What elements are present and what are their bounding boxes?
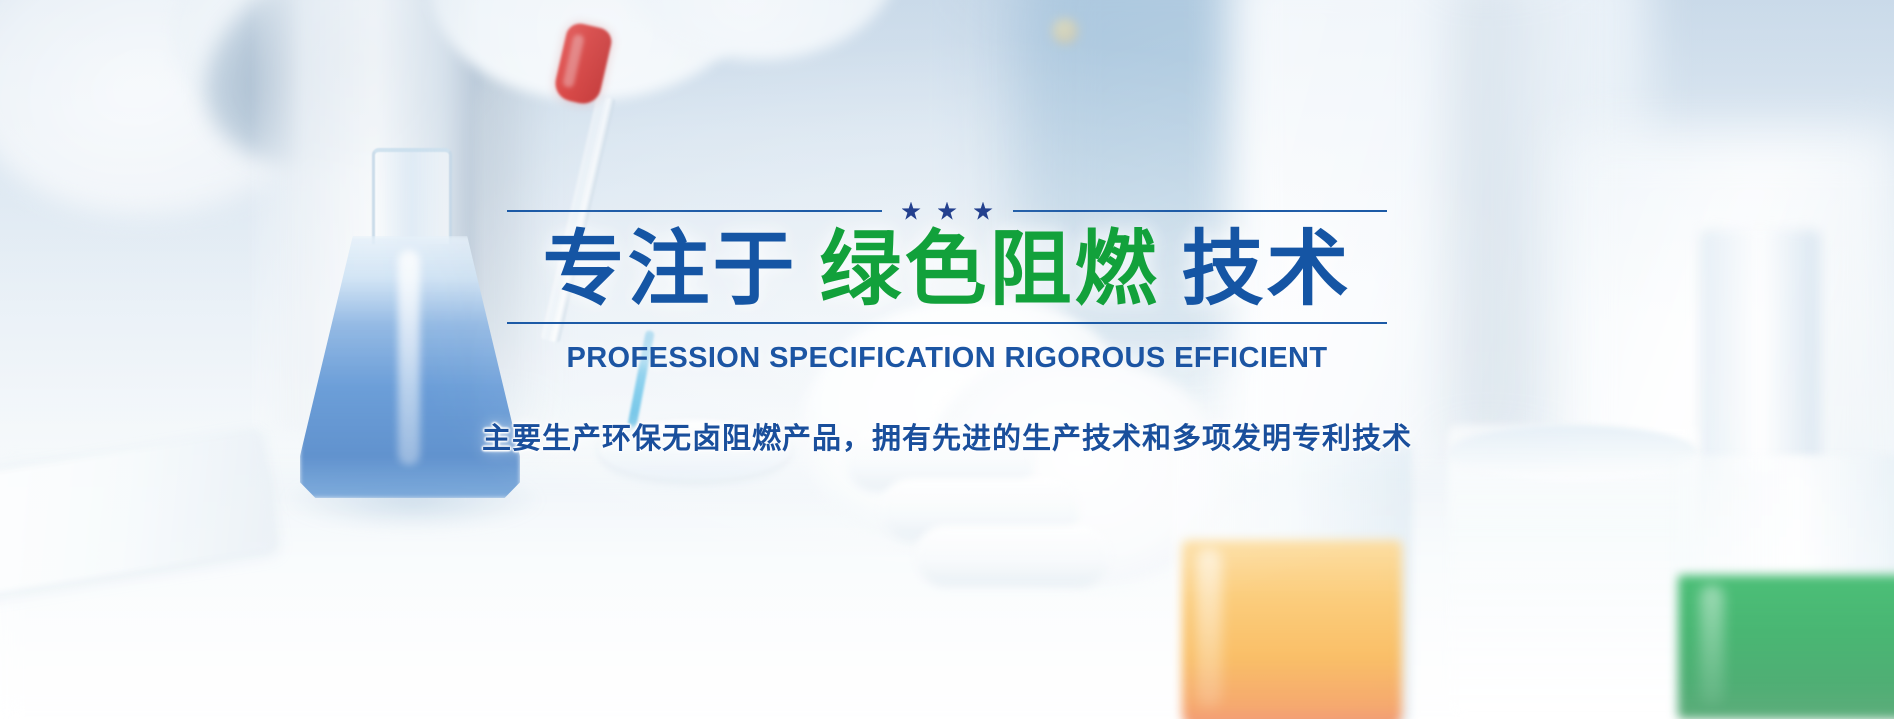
star-icon bbox=[938, 202, 957, 221]
description-text: 主要生产环保无卤阻燃产品，拥有先进的生产技术和多项发明专利技术 bbox=[482, 415, 1412, 457]
title-part-1: 专注于 bbox=[542, 222, 797, 317]
page-title: 专注于绿色阻燃技术 bbox=[542, 228, 1351, 312]
divider-line-right bbox=[1013, 210, 1388, 212]
star-icon bbox=[974, 202, 993, 221]
star-group bbox=[896, 202, 999, 221]
title-part-3: 技术 bbox=[1182, 222, 1352, 317]
top-divider-with-stars bbox=[507, 200, 1387, 222]
title-part-2: 绿色阻燃 bbox=[819, 222, 1159, 317]
hero-banner: 专注于绿色阻燃技术 PROFESSION SPECIFICATION RIGOR… bbox=[0, 0, 1894, 719]
banner-content: 专注于绿色阻燃技术 PROFESSION SPECIFICATION RIGOR… bbox=[0, 0, 1894, 719]
star-icon bbox=[902, 202, 921, 221]
subtitle-english: PROFESSION SPECIFICATION RIGOROUS EFFICI… bbox=[566, 342, 1327, 375]
bottom-divider-line bbox=[507, 322, 1387, 324]
divider-line-left bbox=[507, 210, 882, 212]
